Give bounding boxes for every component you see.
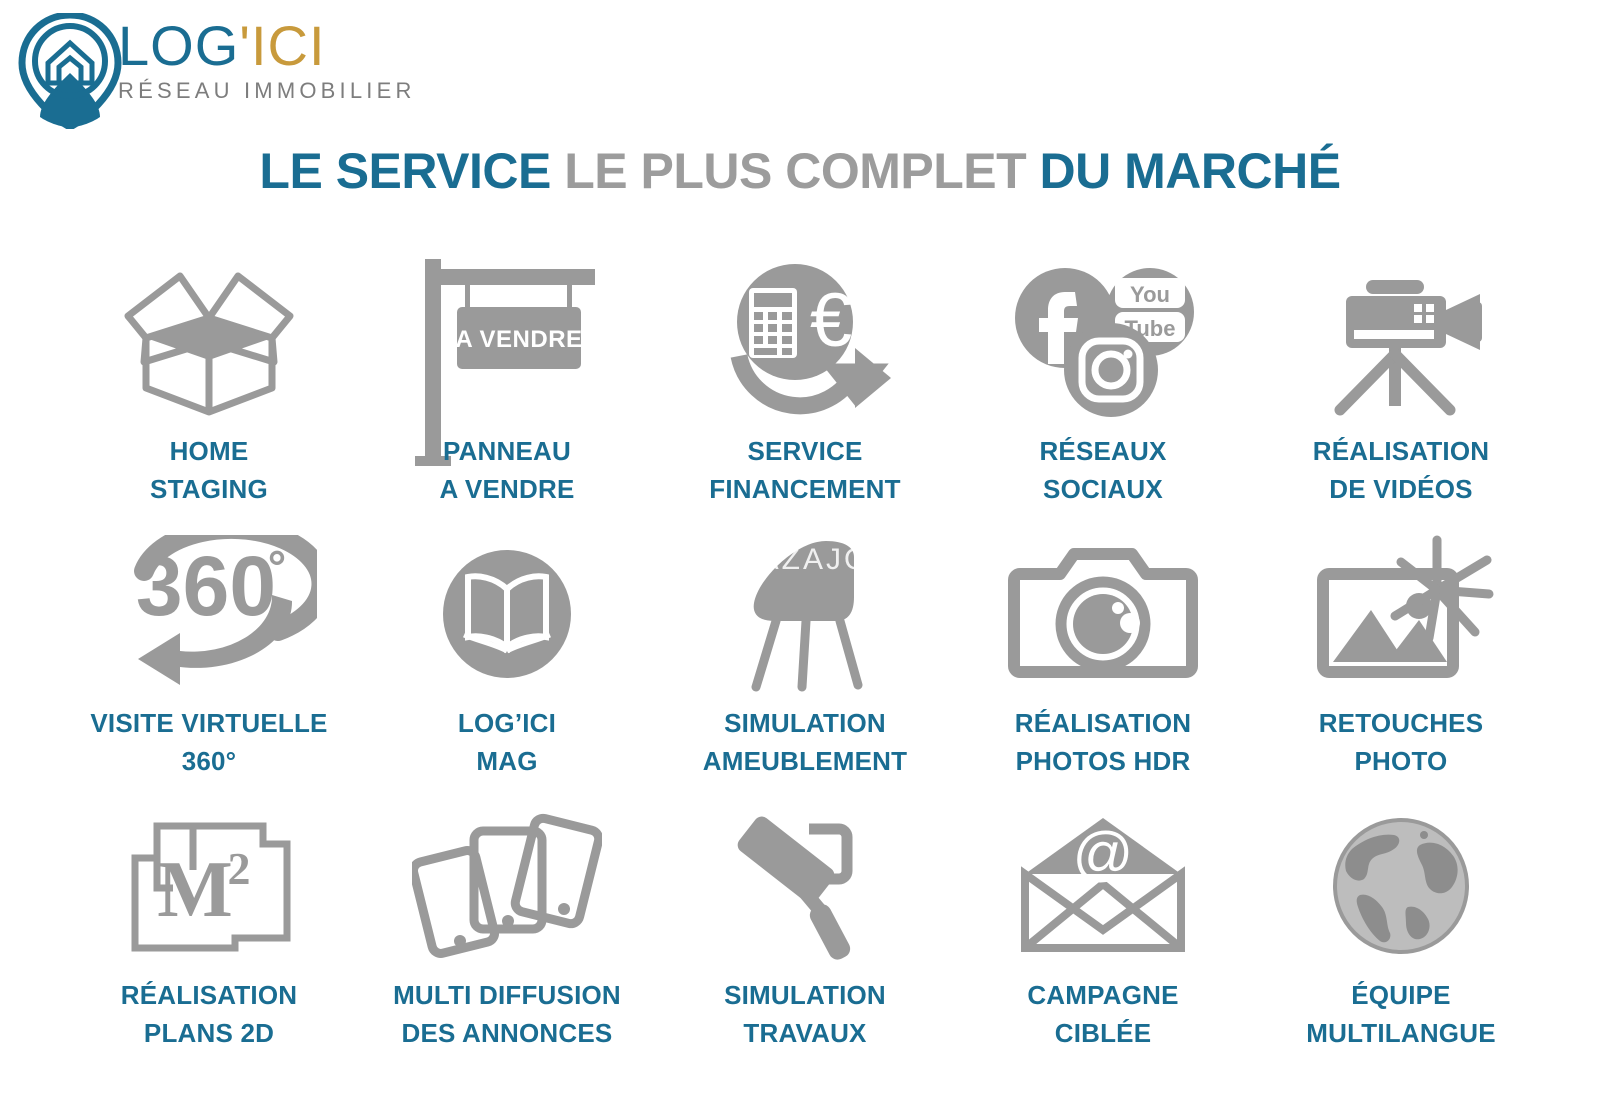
service-item-multilingual-team[interactable]: ÉQUIPE MULTILANGUE bbox=[1252, 799, 1550, 1061]
svg-text:@: @ bbox=[1072, 820, 1133, 887]
service-label: SIMULATION AMEUBLEMENT bbox=[703, 704, 907, 780]
service-item-hdr-photos[interactable]: RÉALISATION PHOTOS HDR bbox=[954, 527, 1252, 789]
photo-camera-icon bbox=[954, 527, 1252, 702]
page-title-part-3: DU MARCHÉ bbox=[1040, 143, 1341, 199]
svg-text:°: ° bbox=[267, 541, 285, 593]
svg-text:360: 360 bbox=[135, 539, 275, 633]
chair-icon: AZAJOU bbox=[656, 527, 954, 702]
service-item-virtual-tour-360[interactable]: 360 ° VISITE VIRTUELLE 360° bbox=[60, 527, 358, 789]
svg-text:€: € bbox=[810, 278, 852, 363]
360-degrees-rotation-icon: 360 ° bbox=[60, 527, 358, 702]
picture-sparkle-icon bbox=[1252, 527, 1550, 702]
envelope-at-icon: @ bbox=[954, 799, 1252, 974]
page-title: LE SERVICE LE PLUS COMPLET DU MARCHÉ bbox=[0, 142, 1600, 200]
service-label: RÉALISATION DE VIDÉOS bbox=[1313, 432, 1490, 508]
brand-wordmark: LOG'ICI bbox=[118, 16, 416, 76]
service-label: SERVICE FINANCEMENT bbox=[709, 432, 900, 508]
floorplan-m2-icon: M 2 bbox=[60, 799, 358, 974]
svg-text:2: 2 bbox=[227, 843, 250, 894]
video-camera-tripod-icon bbox=[1252, 255, 1550, 430]
brand-name-accent: 'ICI bbox=[239, 14, 325, 77]
service-label: RÉSEAUX SOCIAUX bbox=[1039, 432, 1166, 508]
services-grid: HOME STAGING A VENDRE PANNEAU A VENDRE bbox=[60, 255, 1550, 1061]
calculator-euro-arrow-icon: € bbox=[656, 255, 954, 430]
service-label: RÉALISATION PHOTOS HDR bbox=[1015, 704, 1192, 780]
service-item-targeted-campaign[interactable]: @ CAMPAGNE CIBLÉE bbox=[954, 799, 1252, 1061]
brand-name-primary: LOG bbox=[118, 14, 239, 77]
service-label: ÉQUIPE MULTILANGUE bbox=[1306, 976, 1495, 1052]
brand-tagline: RÉSEAU IMMOBILIER bbox=[118, 78, 416, 104]
service-item-multi-listing[interactable]: MULTI DIFFUSION DES ANNONCES bbox=[358, 799, 656, 1061]
service-item-video-production[interactable]: RÉALISATION DE VIDÉOS bbox=[1252, 255, 1550, 517]
service-item-logici-mag[interactable]: LOG’ICI MAG bbox=[358, 527, 656, 789]
service-item-for-sale-sign[interactable]: A VENDRE PANNEAU A VENDRE bbox=[358, 255, 656, 517]
service-label: HOME STAGING bbox=[150, 432, 268, 508]
globe-earth-icon bbox=[1252, 799, 1550, 974]
open-cardboard-box-icon bbox=[60, 255, 358, 430]
service-label: PANNEAU A VENDRE bbox=[440, 432, 575, 508]
service-label: RETOUCHES PHOTO bbox=[1319, 704, 1484, 780]
page-title-part-2: LE PLUS COMPLET bbox=[564, 143, 1039, 199]
service-item-financing[interactable]: € SERVICE FINANCEMENT bbox=[656, 255, 954, 517]
page-title-part-1: LE SERVICE bbox=[259, 143, 564, 199]
service-label: RÉALISATION PLANS 2D bbox=[121, 976, 298, 1052]
svg-text:You: You bbox=[1130, 282, 1170, 307]
open-book-circle-icon bbox=[358, 527, 656, 702]
sign-text: A VENDRE bbox=[455, 326, 582, 353]
for-sale-sign-icon: A VENDRE bbox=[358, 255, 656, 430]
service-label: VISITE VIRTUELLE 360° bbox=[90, 704, 327, 780]
brand-logo: LOG'ICI RÉSEAU IMMOBILIER bbox=[10, 8, 440, 128]
service-label: MULTI DIFFUSION DES ANNONCES bbox=[393, 976, 621, 1052]
service-label: SIMULATION TRAVAUX bbox=[724, 976, 886, 1052]
service-item-renovation-simulation[interactable]: SIMULATION TRAVAUX bbox=[656, 799, 954, 1061]
instagram-icon bbox=[1064, 323, 1158, 417]
paint-roller-icon bbox=[656, 799, 954, 974]
multiple-tablets-icon bbox=[358, 799, 656, 974]
service-item-furniture-simulation[interactable]: AZAJOU SIMULATION AMEUBLEMENT bbox=[656, 527, 954, 789]
service-label: CAMPAGNE CIBLÉE bbox=[1027, 976, 1178, 1052]
location-pin-house-icon bbox=[18, 13, 122, 129]
service-item-2d-floorplans[interactable]: M 2 RÉALISATION PLANS 2D bbox=[60, 799, 358, 1061]
service-item-social-networks[interactable]: You Tube RÉSEAUX SOCIAUX bbox=[954, 255, 1252, 517]
service-item-home-staging[interactable]: HOME STAGING bbox=[60, 255, 358, 517]
svg-text:M: M bbox=[157, 846, 233, 934]
social-networks-icon: You Tube bbox=[954, 255, 1252, 430]
service-item-photo-retouch[interactable]: RETOUCHES PHOTO bbox=[1252, 527, 1550, 789]
service-label: LOG’ICI MAG bbox=[458, 704, 556, 780]
